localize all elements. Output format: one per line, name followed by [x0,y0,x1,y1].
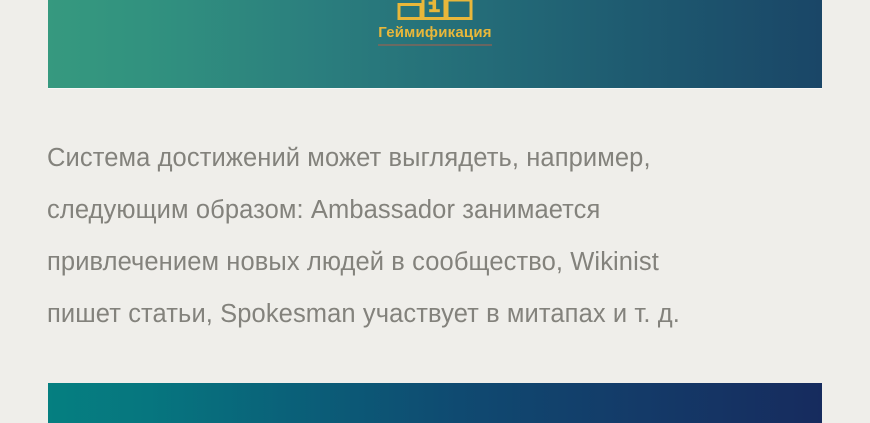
body-line: привлечением новых людей в сообщество, W… [47,236,837,288]
body-line: пишет статьи, Spokesman участвует в мита… [47,288,837,340]
slide-page: Геймификация Система достижений может вы… [0,0,870,400]
body-paragraph: Система достижений может выглядеть, напр… [47,132,837,340]
banner-title-underline [378,44,491,46]
body-line: Система достижений может выглядеть, напр… [47,132,837,184]
gamification-banner: Геймификация [48,0,822,88]
banner-title-text: Геймификация [378,24,491,41]
body-line: следующим образом: Ambassador занимается [47,184,837,236]
banner-title: Геймификация [378,25,491,44]
next-section-banner-fill [48,383,822,423]
podium-first-place-icon [397,0,473,21]
banner-content: Геймификация [48,0,822,44]
next-section-banner [48,383,822,423]
